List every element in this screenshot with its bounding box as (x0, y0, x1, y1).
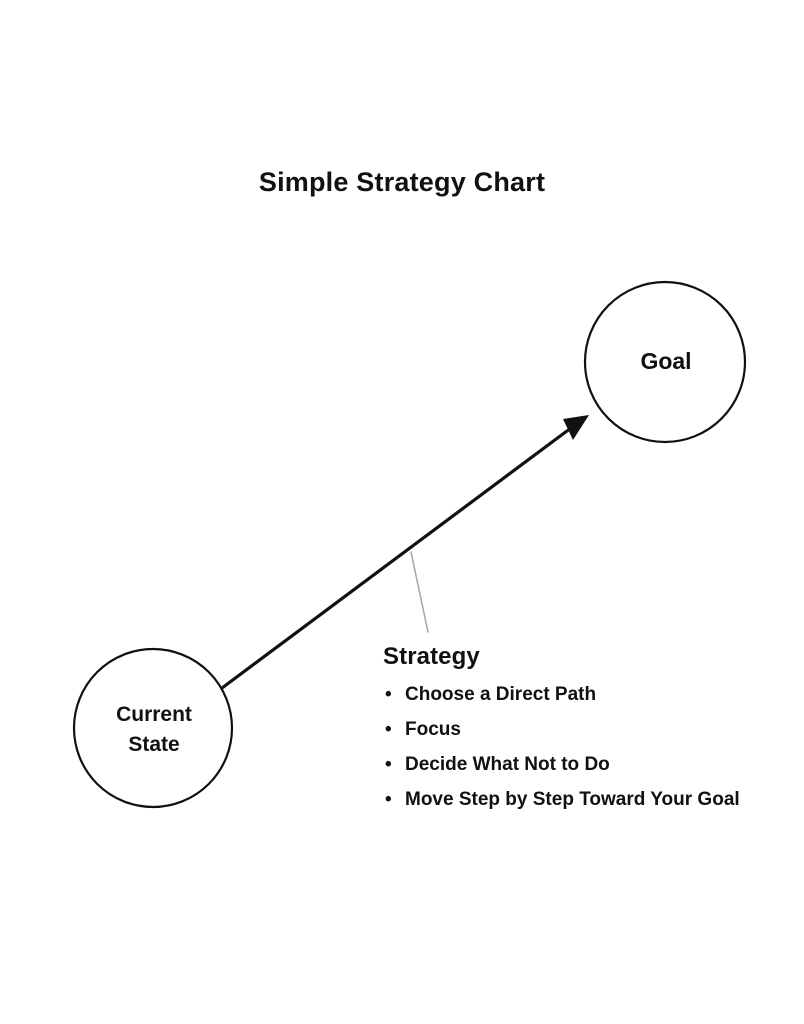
bullet-icon: • (385, 677, 392, 712)
list-item: • Focus (383, 712, 783, 747)
bullet-icon: • (385, 782, 392, 817)
strategy-chart-page: Simple Strategy Chart Goal Current State… (0, 0, 804, 1024)
strategy-heading: Strategy (383, 643, 783, 671)
arrowhead-icon (563, 415, 589, 440)
node-current-state-label: Current State (74, 700, 234, 760)
bullet-icon: • (385, 747, 392, 782)
strategy-list: • Choose a Direct Path • Focus • Decide … (383, 677, 783, 817)
bullet-icon: • (385, 712, 392, 747)
list-item-label: Decide What Not to Do (405, 754, 610, 775)
list-item: • Decide What Not to Do (383, 747, 783, 782)
diagram-canvas (0, 0, 804, 1024)
list-item-label: Choose a Direct Path (405, 684, 596, 705)
list-item-label: Focus (405, 719, 461, 740)
page-title: Simple Strategy Chart (0, 166, 804, 198)
strategy-callout: Strategy • Choose a Direct Path • Focus … (383, 643, 783, 817)
list-item: • Move Step by Step Toward Your Goal (383, 782, 783, 817)
list-item-label: Move Step by Step Toward Your Goal (405, 789, 740, 810)
list-item: • Choose a Direct Path (383, 677, 783, 712)
leader-line-strategy-callout (411, 552, 428, 632)
node-goal-label: Goal (585, 347, 747, 375)
